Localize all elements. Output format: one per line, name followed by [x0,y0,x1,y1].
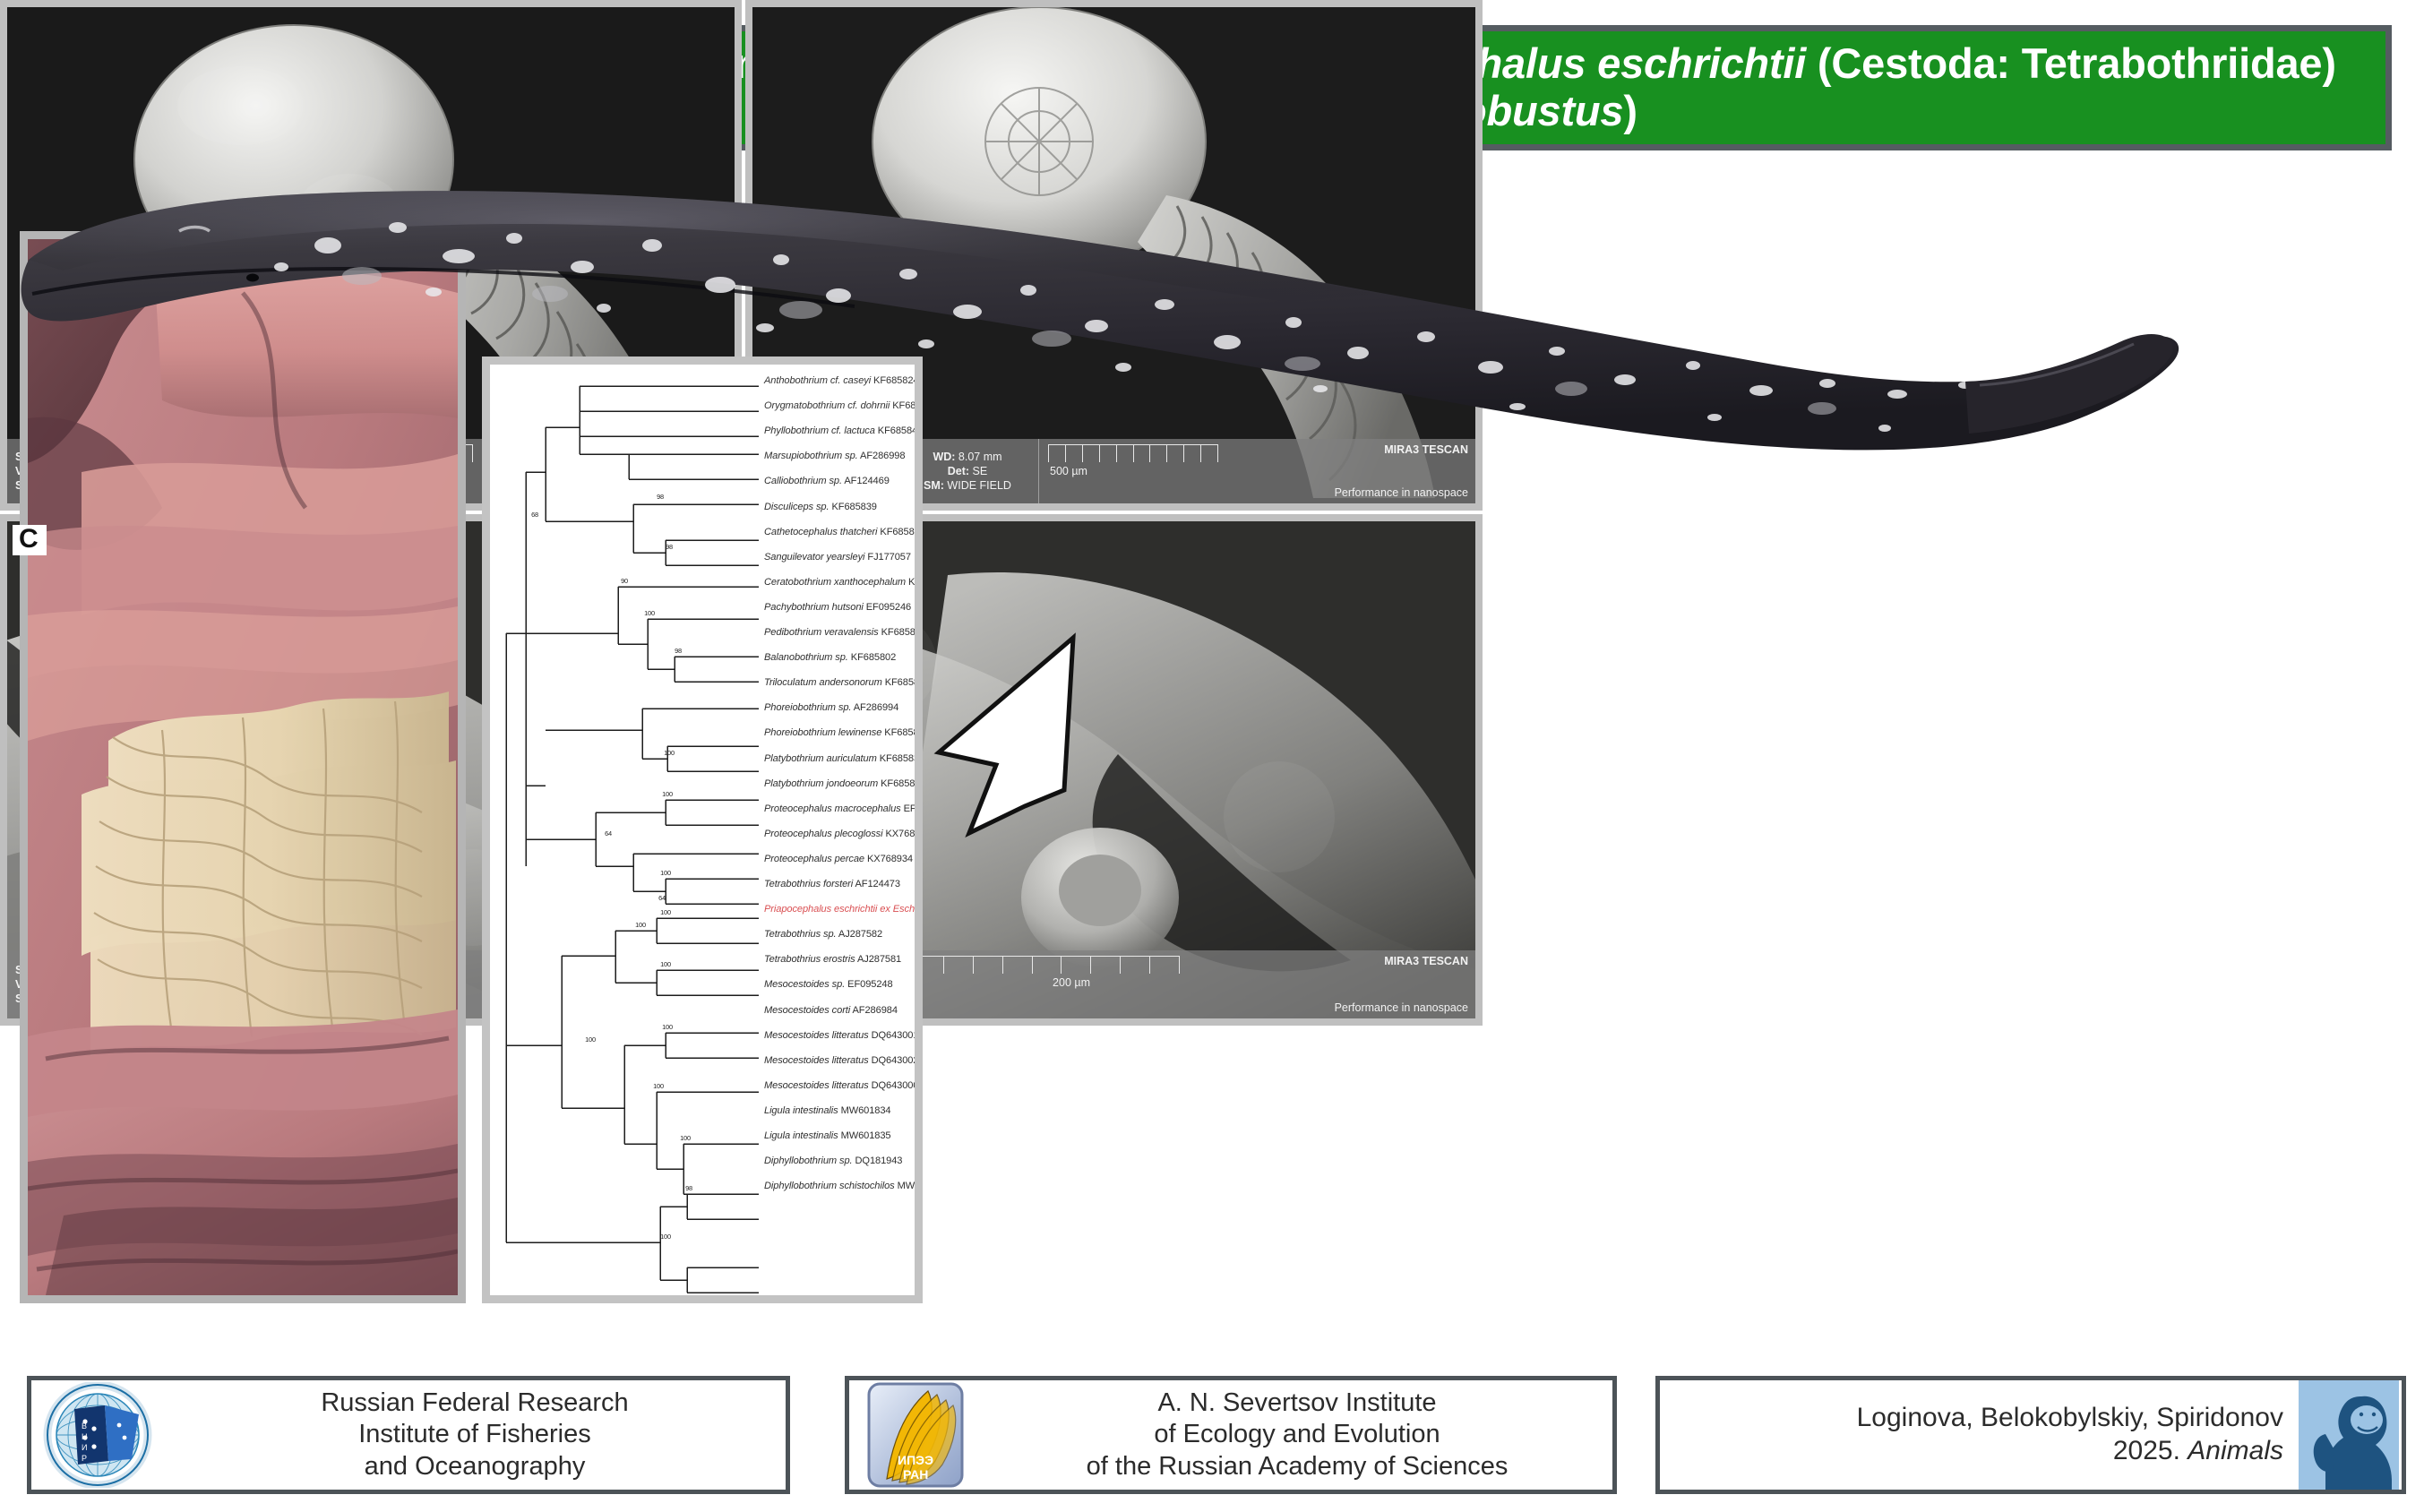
tree-bootstrap-value: 100 [662,1023,673,1031]
tree-bootstrap-value: 100 [653,1082,664,1090]
tree-canvas: Anthobothrium cf. caseyi KF685824Orygmat… [490,365,915,1295]
tree-taxon-label: Mesocestoides sp. EF095248 [764,979,893,990]
tree-bootstrap-value: 100 [585,1035,596,1044]
sem-b-tagline: Performance in nanospace [1335,486,1468,499]
tree-bootstrap-value: 98 [685,1184,692,1192]
vniro-emblem-icon: В Н И Р [39,1382,157,1488]
tree-bootstrap-value: 100 [644,609,655,617]
tree-bootstrap-value: 98 [657,493,664,501]
tree-taxon-label: Calliobothrium sp. AF124469 [764,476,890,486]
svg-text:Н: Н [82,1432,88,1441]
ipee-ran-icon: ИПЭЭ РАН [865,1380,966,1490]
svg-text:РАН: РАН [903,1467,928,1482]
credit-box-citation: Loginova, Belokobylskiy, Spiridonov 2025… [1655,1376,2406,1494]
tree-taxon-label: Tetrabothrius erostris AJ287581 [764,954,901,965]
tree-taxon-label: Marsupiobothrium sp. AF286998 [764,451,905,461]
credit-text-vniro: Russian Federal Research Institute of Fi… [164,1387,786,1482]
tree-taxon-label: Proteocephalus percae KX768934 [764,854,913,864]
tree-bootstrap-value: 100 [680,1134,691,1142]
tree-bootstrap-value: 90 [621,577,628,585]
tree-taxon-label: Platybothrium auriculatum KF685837 [764,753,923,764]
tree-taxon-label: Pachybothrium hutsoni EF095246 [764,602,911,613]
sem-b-wd: WD: 8.07 mm [905,451,1030,463]
tree-taxon-label: Mesocestoides corti AF286984 [764,1005,898,1016]
tree-taxon-label: Orygmatobothrium cf. dohrnii KF685847 [764,400,923,411]
tree-taxon-label: Ligula intestinalis MW601834 [764,1105,891,1116]
phylogenetic-tree-panel: Anthobothrium cf. caseyi KF685824Orygmat… [482,357,923,1303]
citation-year-journal: 2025. Animals [1665,1435,2283,1468]
tree-taxon-label: Proteocephalus macrocephalus EF095247 [764,803,923,814]
tree-taxon-label: Ligula intestinalis MW601835 [764,1130,891,1141]
tree-bootstrap-value: 98 [675,647,682,655]
tree-bootstrap-value: 100 [664,749,675,757]
tree-taxon-label: Diphyllobothrium schistochilos MW601833 [764,1181,923,1191]
sem-b-det: Det: SE [905,465,1030,477]
credit-line-3: and Oceanography [169,1451,780,1482]
title-part-3: ) [1623,87,1637,134]
tree-taxon-label: Proteocephalus plecoglossi KX768933 [764,829,923,839]
tree-bootstrap-value: 98 [666,543,673,551]
svg-text:Р: Р [82,1454,87,1463]
sem-b-scalebar-icon [1048,444,1218,462]
credit-line-2: Institute of Fisheries [169,1419,780,1450]
tree-taxon-label: Balanobothrium sp. KF685802 [764,652,896,663]
tree-taxon-label: Phoreiobothrium lewinense KF685830 [764,727,923,738]
credit-text-ipee: A. N. Severtsov Institute of Ecology and… [982,1387,1612,1482]
tree-taxon-label: Sanguilevator yearsleyi FJ177057 [764,552,911,563]
tree-taxon-label: Mesocestoides litteratus DQ643001 [764,1030,918,1041]
credit-line-1: A. N. Severtsov Institute [987,1387,1607,1419]
citation-journal: Animals [2188,1436,2283,1465]
tree-bootstrap-value: 100 [635,921,646,929]
tree-taxon-label: Mesocestoides litteratus DQ643002 [764,1055,918,1066]
tree-bootstrap-value: 100 [662,790,673,798]
tree-taxon-label: Triloculatum andersonorum KF685831 [764,677,923,688]
credit-line-3: of the Russian Academy of Sciences [987,1451,1607,1482]
sem-b-sm: SM: WIDE FIELD [905,479,1030,492]
tree-taxon-label: Tetrabothrius forsteri AF124473 [764,879,900,889]
citation-authors: Loginova, Belokobylskiy, Spiridonov [1665,1402,2283,1435]
tree-taxon-label: Priapocephalus eschrichtii ex Eschrichti… [764,904,923,915]
animals-journal-gorilla-logo [2296,1380,2402,1490]
tree-taxon-label: Mesocestoides litteratus DQ643000 [764,1080,918,1091]
sem-b-scale-label: 500 µm [1050,465,1087,477]
credit-text-citation: Loginova, Belokobylskiy, Spiridonov 2025… [1660,1402,2296,1467]
necropsy-photo-image [28,239,458,1295]
tree-taxon-label: Phoreiobothrium sp. AF286994 [764,702,898,713]
tree-bootstrap-value: 64 [658,894,666,902]
sem-c-brand: MIRA3 TESCAN [1384,955,1468,967]
necropsy-photo-panel [20,231,466,1303]
credit-line-2: of Ecology and Evolution [987,1419,1607,1450]
tree-taxon-label: Phyllobothrium cf. lactuca KF685845 [764,425,923,436]
tree-bootstrap-value: 100 [660,908,671,916]
tree-taxon-label: Anthobothrium cf. caseyi KF685824 [764,375,918,386]
credit-box-vniro: В Н И Р Russian Federal Research Institu… [27,1376,790,1494]
credit-box-ipee: ИПЭЭ РАН A. N. Severtsov Institute of Ec… [845,1376,1617,1494]
tree-taxon-label: Diphyllobothrium sp. DQ181943 [764,1155,902,1166]
sem-b-brand: MIRA3 TESCAN [1384,443,1468,456]
sem-c-scalebar-icon [884,956,1180,974]
svg-text:ИПЭЭ: ИПЭЭ [898,1453,933,1467]
tree-taxon-label: Cathetocephalus thatcheri KF685838 [764,527,923,537]
sem-panel-c-letter: C [13,525,47,555]
tree-taxon-label: Tetrabothrius sp. AJ287582 [764,929,882,940]
tree-taxon-labels: Anthobothrium cf. caseyi KF685824Orygmat… [490,365,915,1295]
tree-bootstrap-value: 100 [660,960,671,968]
svg-text:И: И [82,1443,87,1452]
svg-text:В: В [82,1422,87,1430]
tree-bootstrap-value: 64 [605,829,612,838]
title-species: eschrichtii [1597,39,1806,87]
tree-taxon-label: Platybothrium jondoeorum KF685829 [764,778,923,789]
tree-taxon-label: Disculiceps sp. KF685839 [764,502,877,512]
tree-taxon-label: Ceratobothrium xanthocephalum KF685849 [764,577,923,588]
poster-root: First Molecular Characteristics and Morp… [0,0,2424,1512]
citation-year: 2025. [2113,1436,2188,1465]
tree-bootstrap-value: 68 [531,511,538,519]
vniro-emblem-logo: В Н И Р [31,1382,164,1488]
tree-bootstrap-value: 100 [660,1233,671,1241]
sem-c-tagline: Performance in nanospace [1335,1001,1468,1014]
credit-line-1: Russian Federal Research [169,1387,780,1419]
gorilla-icon [2299,1380,2399,1490]
ipee-ran-logo: ИПЭЭ РАН [849,1382,982,1488]
tree-bootstrap-value: 100 [660,869,671,877]
tree-taxon-label: Pedibothrium veravalensis KF685801 [764,627,923,638]
sem-c-scale-label: 200 µm [1053,976,1090,989]
